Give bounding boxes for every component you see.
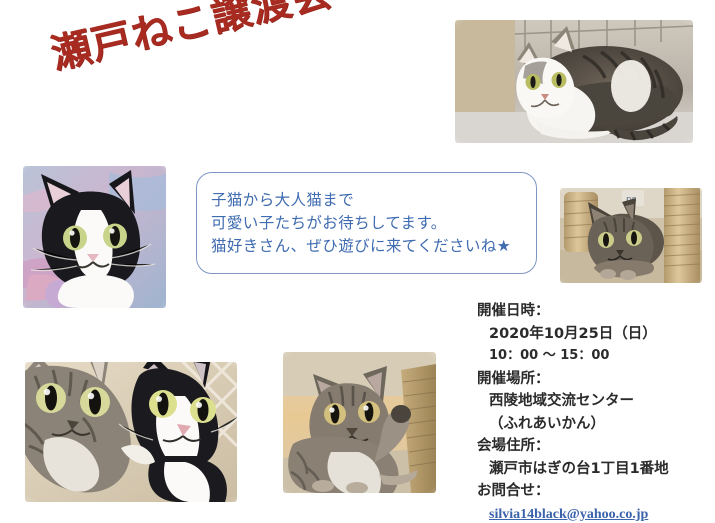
page-title: 瀬戸ねこ譲渡会 <box>48 0 337 75</box>
message-line-3: 猫好きさん、ぜひ遊びに来てくださいね★ <box>211 235 511 258</box>
event-date-label: 開催日時： <box>477 300 669 323</box>
venue-value-sub: （ふれあいかん） <box>477 413 669 436</box>
contact-email-link[interactable]: silvia14black@yahoo.co.jp <box>489 507 648 522</box>
address-value: 瀬戸市はぎの台1丁目1番地 <box>477 458 669 481</box>
poster-title: 瀬戸ねこ譲渡会 <box>48 0 368 75</box>
message-text: 子猫から大人猫まで 可愛い子たちがお待ちしてます。 猫好きさん、ぜひ遊びに来てく… <box>211 189 511 258</box>
message-line-1: 子猫から大人猫まで <box>211 189 511 212</box>
message-line-2: 可愛い子たちがお待ちしてます。 <box>211 212 511 235</box>
photo-tabby-raised-paw <box>283 352 436 493</box>
photo-two-kittens <box>25 362 237 502</box>
event-date-value: 2020年10月25日（日） <box>477 323 669 346</box>
photo-tabby-by-scratching-post: ps <box>560 188 702 283</box>
address-label: 会場住所： <box>477 435 669 458</box>
venue-label: 開催場所： <box>477 368 669 391</box>
message-box: 子猫から大人猫まで 可愛い子たちがお待ちしてます。 猫好きさん、ぜひ遊びに来てく… <box>196 172 537 274</box>
photo-tuxedo-kitten <box>23 166 166 308</box>
contact-label: お問合せ： <box>477 480 669 503</box>
photo-tabby-in-cage <box>455 20 693 143</box>
event-info-block: 開催日時： 2020年10月25日（日） 10：00 〜 15：00 開催場所：… <box>477 300 669 523</box>
poster-canvas: 瀬戸ねこ譲渡会 <box>0 0 715 523</box>
event-time-value: 10：00 〜 15：00 <box>477 345 669 368</box>
venue-value: 西陵地域交流センター <box>477 390 669 413</box>
